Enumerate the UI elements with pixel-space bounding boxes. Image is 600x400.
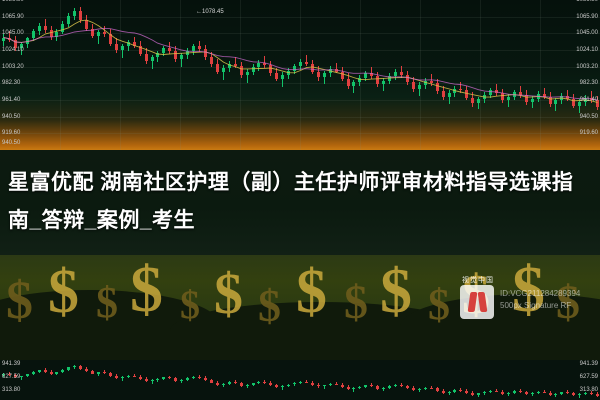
candle-body — [453, 390, 456, 391]
dollar-sign-icon: $ — [258, 283, 281, 329]
candle-body — [192, 377, 195, 378]
candle-body — [519, 391, 522, 392]
candle-body — [341, 385, 344, 387]
candle-body — [465, 391, 468, 393]
candle-body — [566, 392, 569, 393]
candle-body — [507, 393, 510, 394]
axis-tick-label: 941.39 — [580, 361, 598, 367]
candle-body — [572, 393, 575, 395]
axis-tick-label: 1086.80 — [2, 0, 24, 3]
lower-candlestick-chart: 941.39627.59313.80 941.39627.59313.80 — [0, 360, 600, 400]
candle-body — [501, 392, 504, 394]
candle-body — [287, 385, 290, 386]
axis-tick-label: 1065.90 — [576, 14, 598, 20]
axis-tick-label: 1065.90 — [2, 14, 24, 20]
candle-body — [376, 386, 379, 389]
dollar-sign-icon: $ — [296, 261, 327, 323]
candle-body — [145, 379, 148, 381]
candle-body — [38, 370, 41, 372]
candle-body — [578, 394, 581, 395]
vcg-logo-icon — [460, 285, 494, 319]
candle-body — [79, 366, 82, 369]
candle-body — [436, 388, 439, 391]
dollar-sign-icon: $ — [96, 281, 118, 325]
dollar-sign-icon: $ — [48, 261, 79, 323]
watermark-id-text: ID:VCG211284289394 — [500, 289, 580, 298]
candle-body — [358, 387, 361, 388]
candle-body — [257, 382, 260, 383]
axis-tick-label: 627.59 — [580, 374, 598, 380]
candle-body — [364, 385, 367, 386]
candle-body — [275, 385, 278, 387]
candle-body — [121, 377, 124, 378]
candle-body — [204, 378, 207, 381]
candle-body — [109, 373, 112, 376]
candle-body — [495, 391, 498, 392]
candle-body — [442, 391, 445, 393]
headline-text: 星富优配 湖南社区护理（副）主任护师评审材料指导选课指南_答辩_案例_考生 — [8, 164, 592, 240]
axis-tick-label: 940.50 — [580, 114, 598, 120]
axis-tick-label: 313.80 — [580, 387, 598, 393]
candle-body — [97, 372, 100, 373]
candle-body — [459, 390, 462, 391]
dollar-sign-scene: $$$$$$$$$$$$$$ ID:VCG211284289394 500px … — [0, 255, 600, 360]
axis-tick-label: 941.39 — [2, 361, 20, 367]
candle-body — [531, 393, 534, 394]
moving-average-lines — [0, 0, 600, 150]
candle-body — [448, 392, 451, 393]
candle-body — [50, 372, 53, 374]
candle-body — [477, 393, 480, 394]
axis-tick-label: 1045.00 — [576, 30, 598, 36]
candle-body — [281, 386, 284, 387]
candle-body — [133, 376, 136, 377]
corner-axis-label: 940.50 — [2, 140, 20, 146]
candle-body — [299, 382, 302, 383]
candle-body — [347, 387, 350, 389]
candle-body — [317, 385, 320, 387]
candle-body — [103, 372, 106, 373]
price-annotation: ←1078.45 — [196, 9, 224, 15]
candle-body — [222, 384, 225, 385]
candle-body — [543, 392, 546, 393]
dollar-sign-icon: $ — [380, 259, 412, 323]
candle-body — [329, 384, 332, 385]
dollar-sign-icon: $ — [180, 285, 200, 325]
candle-body — [584, 393, 587, 394]
candle-body — [156, 379, 159, 380]
candle-body — [554, 394, 557, 395]
candle-body — [430, 388, 433, 389]
candle-body — [234, 382, 237, 383]
candle-body — [162, 377, 165, 378]
candle-body — [115, 376, 118, 378]
candle-body — [400, 385, 403, 386]
candle-body — [489, 391, 492, 392]
dollar-sign-icon: $ — [428, 283, 450, 327]
candle-body — [151, 380, 154, 381]
dollar-sign-icon: $ — [130, 257, 163, 323]
candle-body — [311, 383, 314, 385]
candle-body — [418, 389, 421, 390]
candle-body — [590, 393, 593, 394]
upper-candlestick-chart: 1086.801065.901045.001024.101003.20982.3… — [0, 0, 600, 150]
candle-body — [412, 388, 415, 390]
candle-body — [352, 388, 355, 389]
axis-tick-label: 961.40 — [2, 97, 20, 103]
candle-body — [216, 383, 219, 385]
candle-body — [55, 372, 58, 373]
candle-body — [596, 394, 599, 396]
stock-photo-image: 1086.801065.901045.001024.101003.20982.3… — [0, 0, 600, 400]
candle-body — [394, 385, 397, 386]
axis-tick-label: 919.60 — [2, 130, 20, 136]
candle-body — [139, 377, 142, 380]
candle-body — [127, 376, 130, 377]
candle-body — [424, 388, 427, 389]
candle-body — [91, 371, 94, 373]
dollar-sign-icon: $ — [344, 279, 368, 327]
candle-body — [471, 393, 474, 395]
candle-body — [370, 385, 373, 386]
candle-body — [73, 366, 76, 367]
candle-body — [263, 382, 266, 383]
axis-tick-label: 1086.80 — [576, 0, 598, 3]
candle-body — [20, 376, 23, 377]
axis-tick-label: 961.40 — [580, 97, 598, 103]
candle-body — [240, 383, 243, 386]
dollar-sign-icon: $ — [6, 273, 33, 327]
watermark-brand-text: 视觉中国 — [462, 275, 494, 285]
candle-body — [323, 385, 326, 386]
candle-body — [180, 380, 183, 381]
axis-tick-label: 919.60 — [580, 130, 598, 136]
axis-tick-label: 313.80 — [2, 387, 20, 393]
candle-body — [483, 392, 486, 393]
candle-body — [44, 370, 47, 371]
candle-body — [269, 383, 272, 386]
axis-tick-label: 1024.10 — [576, 47, 598, 53]
candle-body — [525, 392, 528, 394]
axis-tick-label: 627.59 — [2, 374, 20, 380]
axis-tick-label: 940.50 — [2, 114, 20, 120]
headline-band: 星富优配 湖南社区护理（副）主任护师评审材料指导选课指南_答辩_案例_考生 — [0, 150, 600, 255]
candle-body — [246, 385, 249, 386]
candle-body — [168, 377, 171, 378]
candle-body — [32, 372, 35, 374]
axis-tick-label: 1003.20 — [576, 64, 598, 70]
axis-tick-label: 1003.20 — [2, 64, 24, 70]
candle-body — [513, 391, 516, 392]
candle-body — [335, 384, 338, 385]
candle-body — [210, 380, 213, 382]
candle-body — [61, 370, 64, 373]
dollar-sign-icon: $ — [214, 265, 243, 323]
candle-body — [388, 386, 391, 387]
candle-body — [174, 378, 177, 381]
candle-body — [67, 367, 70, 370]
axis-tick-label: 1024.10 — [2, 47, 24, 53]
candle-body — [549, 393, 552, 395]
axis-tick-label: 1045.00 — [2, 30, 24, 36]
candle-body — [293, 383, 296, 384]
candle-body — [305, 382, 308, 383]
axis-tick-label: 982.30 — [580, 80, 598, 86]
candle-body — [228, 382, 231, 383]
candle-body — [252, 383, 255, 384]
candle-body — [406, 386, 409, 388]
candle-body — [537, 392, 540, 393]
candle-body — [26, 374, 29, 376]
candle-body — [186, 378, 189, 379]
candle-body — [560, 392, 563, 393]
candle-body — [198, 377, 201, 378]
axis-tick-label: 982.30 — [2, 80, 20, 86]
candle-body — [382, 388, 385, 389]
watermark-license-text: 500px Signature RF — [500, 301, 571, 310]
candle-body — [85, 369, 88, 372]
